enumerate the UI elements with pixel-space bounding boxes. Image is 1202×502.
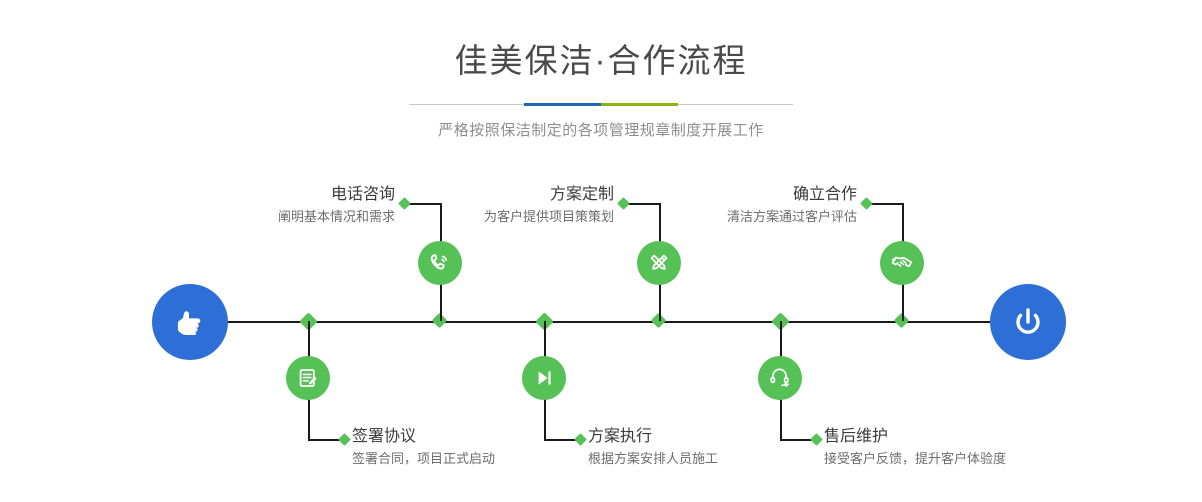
end-node[interactable]	[990, 284, 1066, 360]
step-desc-4: 根据方案安排人员施工	[588, 450, 858, 468]
document-edit-icon	[295, 365, 321, 391]
step-title-3: 方案定制	[370, 185, 614, 205]
pencil-ruler-icon	[646, 250, 672, 276]
step-label-3: 方案定制 为客户提供项目策策划	[370, 185, 614, 226]
label-tip-5	[860, 197, 873, 210]
skip-next-icon	[531, 365, 557, 391]
step-title-5: 确立合作	[613, 185, 857, 205]
process-flow-diagram: 佳美保洁·合作流程 严格按照保洁制定的各项管理规章制度开展工作	[0, 0, 1202, 502]
step-label-5: 确立合作 清洁方案通过客户评估	[613, 185, 857, 226]
step-desc-5: 清洁方案通过客户评估	[613, 208, 857, 226]
step-node-1[interactable]	[418, 241, 462, 285]
step-title-1: 电话咨询	[150, 185, 395, 205]
step-node-3[interactable]	[637, 241, 681, 285]
phone-ring-icon	[427, 250, 453, 276]
power-icon	[1008, 302, 1048, 342]
step-desc-2: 签署合同，项目正式启动	[352, 450, 612, 468]
step-node-6[interactable]	[758, 356, 802, 400]
step-title-6: 售后维护	[824, 427, 1124, 447]
step-desc-3: 为客户提供项目策策划	[370, 208, 614, 226]
page-subtitle: 严格按照保洁制定的各项管理规章制度开展工作	[0, 119, 1202, 140]
step-desc-1: 阐明基本情况和需求	[150, 208, 395, 226]
step-node-4[interactable]	[522, 356, 566, 400]
divider-green-segment	[601, 103, 678, 106]
divider-blue-segment	[524, 103, 601, 106]
page-title: 佳美保洁·合作流程	[0, 44, 1202, 77]
title-divider	[409, 103, 793, 106]
headset-add-icon	[767, 365, 793, 391]
step-node-5[interactable]	[880, 241, 924, 285]
start-node[interactable]	[152, 284, 228, 360]
step-label-6: 售后维护 接受客户反馈，提升客户体验度	[824, 427, 1124, 468]
step-title-2: 签署协议	[352, 427, 612, 447]
step-label-2: 签署协议 签署合同，项目正式启动	[352, 427, 612, 468]
handshake-icon	[889, 250, 915, 276]
header: 佳美保洁·合作流程 严格按照保洁制定的各项管理规章制度开展工作	[0, 0, 1202, 140]
step-desc-6: 接受客户反馈，提升客户体验度	[824, 450, 1124, 468]
pointing-hand-icon	[170, 302, 210, 342]
connector-horizontal-5	[870, 203, 903, 205]
step-node-2[interactable]	[286, 356, 330, 400]
label-tip-2	[338, 433, 351, 446]
step-label-1: 电话咨询 阐明基本情况和需求	[150, 185, 395, 226]
